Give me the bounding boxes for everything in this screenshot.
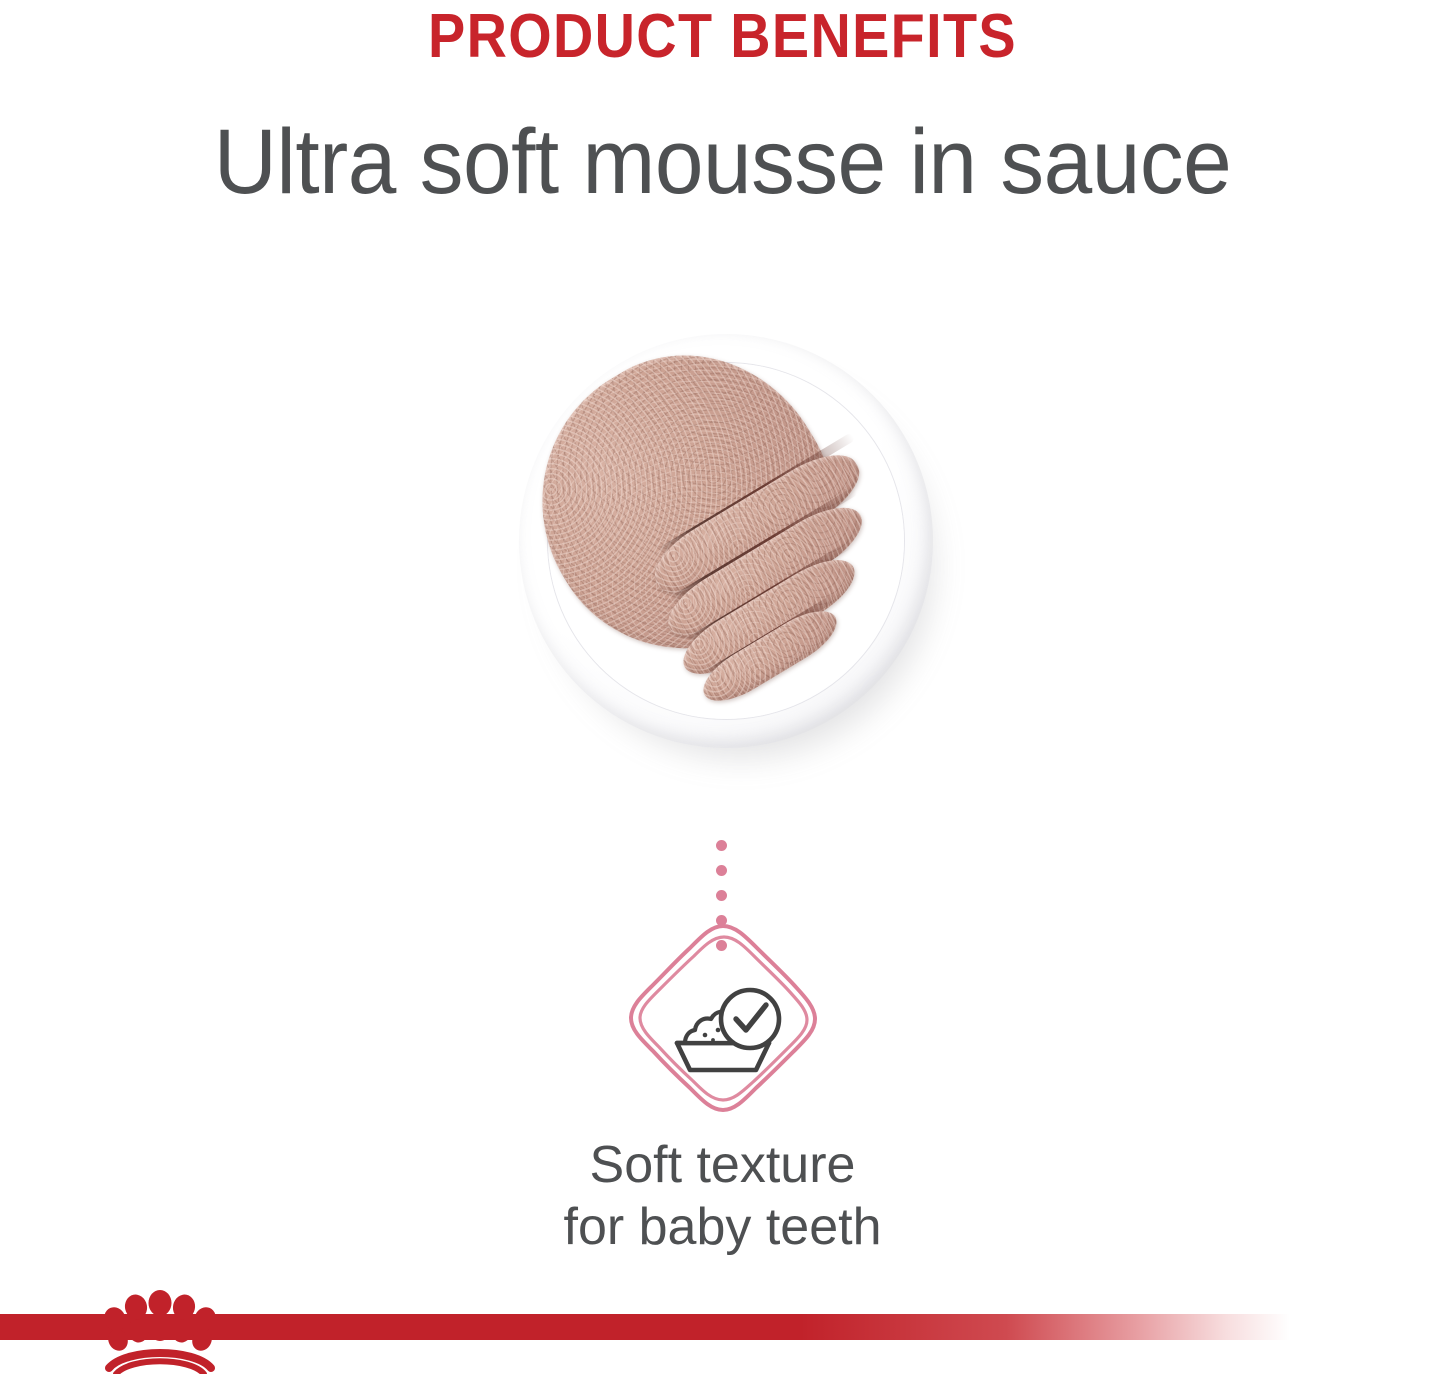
section-eyebrow-title: PRODUCT BENEFITS (72, 0, 1373, 68)
benefit-icon-frame (623, 918, 823, 1118)
connector-dot (716, 840, 727, 851)
connector-dot (716, 865, 727, 876)
benefit-block: Soft texture for baby teeth (0, 918, 1445, 1259)
royal-canin-crown-logo (96, 1290, 224, 1374)
plate-stage (491, 300, 961, 800)
page-title: Ultra soft mousse in sauce (36, 68, 1409, 208)
product-photo (0, 300, 1445, 830)
mousse-layer (491, 300, 961, 800)
header: PRODUCT BENEFITS Ultra soft mousse in sa… (0, 0, 1445, 208)
benefit-caption-line-1: Soft texture (590, 1136, 856, 1194)
connector-dot (716, 890, 727, 901)
food-bowl-check-icon (623, 918, 823, 1118)
benefit-caption-line-2: for baby teeth (0, 1196, 1445, 1258)
brand-band (0, 1290, 1445, 1374)
benefit-caption: Soft texture for baby teeth (0, 1134, 1445, 1259)
